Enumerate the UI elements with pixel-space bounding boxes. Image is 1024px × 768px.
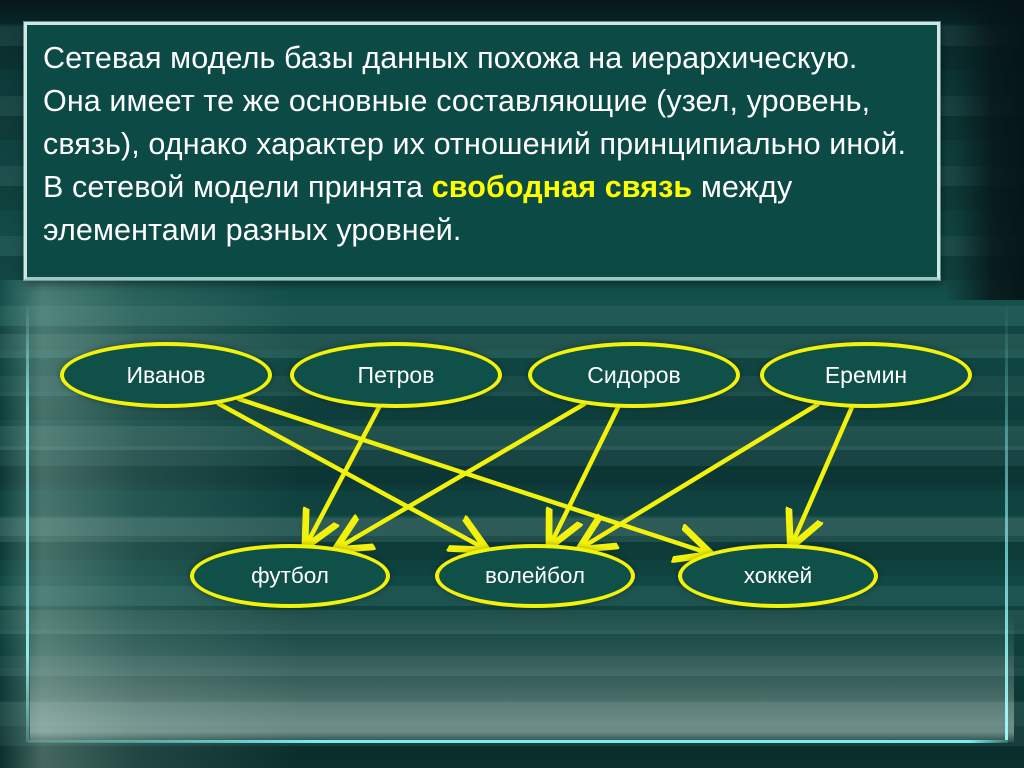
node-futbol[interactable]: футбол [190,544,390,608]
edge-petrov-to-futbol [307,408,379,545]
node-label: Сидоров [587,362,680,389]
node-ivanov[interactable]: Иванов [60,342,272,408]
text-panel: Сетевая модель базы данных похожа на иер… [24,22,940,280]
paragraph-text: Сетевая модель базы данных похожа на иер… [43,37,923,252]
edge-sidorov-to-futbol [338,404,584,548]
node-eremin[interactable]: Еремин [760,342,972,408]
slide: Сетевая модель базы данных похожа на иер… [0,0,1024,768]
node-label: волейбол [485,563,585,589]
edge-eremin-to-voleybol [582,404,818,547]
node-petrov[interactable]: Петров [290,342,502,408]
node-sidorov[interactable]: Сидоров [528,342,740,408]
edge-ivanov-to-voleybol [219,404,485,549]
background-right-shade [944,0,1024,300]
node-label: Петров [358,362,435,389]
node-hokkey[interactable]: хоккей [678,544,878,608]
edge-eremin-to-hokkey [792,408,852,545]
node-voleybol[interactable]: волейбол [435,544,635,608]
node-label: Иванов [127,362,206,389]
node-label: хоккей [744,563,813,589]
edge-ivanov-to-hokkey [239,399,708,553]
node-label: футбол [251,563,329,589]
edge-sidorov-to-voleybol [551,408,618,545]
network-diagram: ИвановПетровСидоровЕреминфутболволейболх… [0,280,1024,768]
node-label: Еремин [825,362,907,389]
highlighted-term: свободная связь [432,170,693,204]
background-top-shade [0,0,1024,24]
